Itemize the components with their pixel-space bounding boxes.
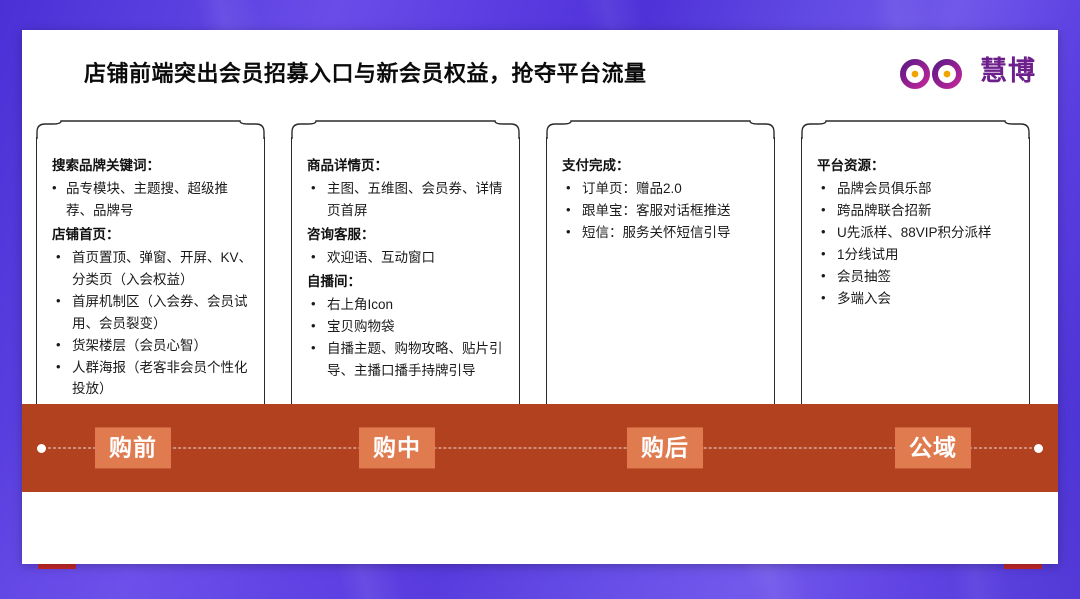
group-platform-resources: 平台资源： 品牌会员俱乐部 跨品牌联合招新 U先派样、88VIP积分派样 1分线… (817, 155, 1018, 309)
list-item: 会员抽签 (817, 266, 1018, 288)
list-item: 短信：服务关怀短信引导 (562, 222, 763, 244)
list-item: 首屏机制区（入会券、会员试用、会员裂变） (52, 291, 253, 335)
timeline-stage-in-purchase: 购中 (359, 427, 435, 468)
slide-header: 店铺前端突出会员招募入口与新会员权益，抢夺平台流量 (22, 30, 1058, 118)
group-items: 订单页：赠品2.0 跟单宝：客服对话框推送 短信：服务关怀短信引导 (562, 178, 763, 244)
timeline-endpoint-left (37, 444, 46, 453)
list-item: 主图、五维图、会员券、详情页首屏 (307, 178, 508, 222)
list-item: 订单页：赠品2.0 (562, 178, 763, 200)
list-item: 欢迎语、互动窗口 (307, 247, 508, 269)
list-item: 品专模块、主题搜、超级推荐、品牌号 (52, 178, 253, 222)
list-item: 1分线试用 (817, 244, 1018, 266)
group-title: 搜索品牌关键词： (52, 155, 253, 177)
timeline-stage-public-domain: 公域 (895, 427, 971, 468)
group-items: 右上角Icon 宝贝购物袋 自播主题、购物攻略、贴片引导、主播口播手持牌引导 (307, 294, 508, 381)
column-body: 商品详情页： 主图、五维图、会员券、详情页首屏 咨询客服： 欢迎语、互动窗口 自… (291, 137, 520, 440)
timeline-stage-pre-purchase: 购前 (95, 427, 171, 468)
page-title: 店铺前端突出会员招募入口与新会员权益，抢夺平台流量 (84, 56, 647, 88)
column-body: 搜索品牌关键词： 品专模块、主题搜、超级推荐、品牌号 店铺首页： 首页置顶、弹窗… (36, 137, 265, 440)
timeline-dashed-line (38, 448, 1042, 449)
group-customer-service: 咨询客服： 欢迎语、互动窗口 (307, 224, 508, 269)
group-items: 品牌会员俱乐部 跨品牌联合招新 U先派样、88VIP积分派样 1分线试用 会员抽… (817, 178, 1018, 309)
group-items: 主图、五维图、会员券、详情页首屏 (307, 178, 508, 222)
journey-timeline: 购前 购中 购后 公域 (22, 404, 1058, 492)
list-item: 自播主题、购物攻略、贴片引导、主播口播手持牌引导 (307, 338, 508, 382)
group-livestream-room: 自播间： 右上角Icon 宝贝购物袋 自播主题、购物攻略、贴片引导、主播口播手持… (307, 271, 508, 382)
list-item: 人群海报（老客非会员个性化投放） (52, 357, 253, 401)
timeline-endpoint-right (1034, 444, 1043, 453)
list-item: 跨品牌联合招新 (817, 200, 1018, 222)
list-item: 品牌会员俱乐部 (817, 178, 1018, 200)
group-search-keywords: 搜索品牌关键词： 品专模块、主题搜、超级推荐、品牌号 (52, 155, 253, 222)
logo-text: 慧博 (980, 49, 1036, 88)
group-items: 品专模块、主题搜、超级推荐、品牌号 (52, 178, 253, 222)
list-item: 首页置顶、弹窗、开屏、KV、分类页（入会权益） (52, 247, 253, 291)
slide-card: 店铺前端突出会员招募入口与新会员权益，抢夺平台流量 (22, 30, 1058, 564)
group-title: 商品详情页： (307, 155, 508, 177)
group-title: 平台资源： (817, 155, 1018, 177)
list-item: 右上角Icon (307, 294, 508, 316)
group-items: 欢迎语、互动窗口 (307, 247, 508, 269)
slide-root: 店铺前端突出会员招募入口与新会员权益，抢夺平台流量 (0, 0, 1080, 599)
group-product-detail-page: 商品详情页： 主图、五维图、会员券、详情页首屏 (307, 155, 508, 222)
list-item: 跟单宝：客服对话框推送 (562, 200, 763, 222)
group-items: 首页置顶、弹窗、开屏、KV、分类页（入会权益） 首屏机制区（入会券、会员试用、会… (52, 247, 253, 400)
group-store-homepage: 店铺首页： 首页置顶、弹窗、开屏、KV、分类页（入会权益） 首屏机制区（入会券、… (52, 224, 253, 400)
group-title: 支付完成： (562, 155, 763, 177)
list-item: U先派样、88VIP积分派样 (817, 222, 1018, 244)
hb-logo-icon (896, 46, 970, 90)
brand-logo: 慧博 (896, 46, 1036, 90)
list-item: 宝贝购物袋 (307, 316, 508, 338)
group-title: 咨询客服： (307, 224, 508, 246)
timeline-stage-post-purchase: 购后 (627, 427, 703, 468)
group-title: 自播间： (307, 271, 508, 293)
list-item: 多端入会 (817, 288, 1018, 310)
column-body: 支付完成： 订单页：赠品2.0 跟单宝：客服对话框推送 短信：服务关怀短信引导 (546, 137, 775, 440)
group-payment-complete: 支付完成： 订单页：赠品2.0 跟单宝：客服对话框推送 短信：服务关怀短信引导 (562, 155, 763, 244)
group-title: 店铺首页： (52, 224, 253, 246)
list-item: 货架楼层（会员心智） (52, 335, 253, 357)
column-body: 平台资源： 品牌会员俱乐部 跨品牌联合招新 U先派样、88VIP积分派样 1分线… (801, 137, 1030, 440)
